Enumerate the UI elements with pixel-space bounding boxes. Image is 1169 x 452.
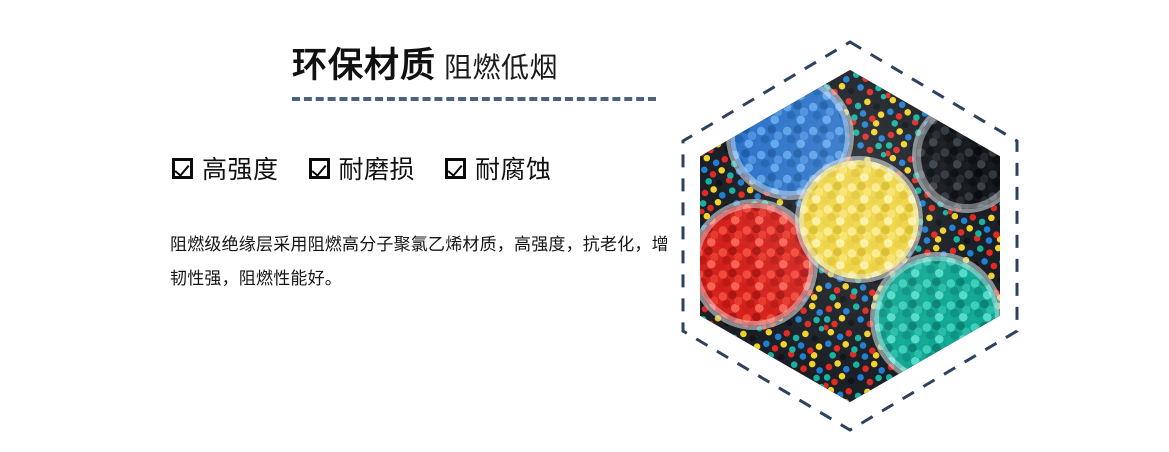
feature-label: 耐腐蚀 bbox=[475, 150, 552, 186]
feature-label: 高强度 bbox=[202, 150, 279, 186]
checkbox-checked-icon bbox=[172, 158, 193, 179]
text-column: 环保材质阻燃低烟 高强度 耐磨损 耐腐蚀 阻燃级绝缘层采用阻燃高分子聚氯乙烯材质… bbox=[0, 0, 680, 452]
yellow-pellet-bowl bbox=[799, 160, 919, 280]
title-secondary: 阻燃低烟 bbox=[444, 52, 558, 83]
bowl-rim bbox=[799, 160, 919, 280]
feature-list: 高强度 耐磨损 耐腐蚀 bbox=[172, 150, 552, 186]
feature-item-wear-resistant: 耐磨损 bbox=[309, 150, 416, 186]
product-image-panel bbox=[679, 38, 1021, 434]
feature-item-corrosion-resistant: 耐腐蚀 bbox=[445, 150, 552, 186]
checkbox-checked-icon bbox=[309, 158, 330, 179]
description-text: 阻燃级绝缘层采用阻燃高分子聚氯乙烯材质，高强度，抗老化，增韧性强，阻燃性能好。 bbox=[170, 228, 670, 296]
title-primary: 环保材质 bbox=[292, 46, 436, 85]
red-pellet-bowl bbox=[700, 203, 814, 326]
feature-label: 耐磨损 bbox=[339, 150, 416, 186]
dashed-divider bbox=[292, 97, 656, 101]
checkbox-checked-icon bbox=[445, 158, 466, 179]
bowl-rim bbox=[700, 203, 814, 326]
feature-item-strength: 高强度 bbox=[172, 150, 279, 186]
promo-banner: 环保材质阻燃低烟 高强度 耐磨损 耐腐蚀 阻燃级绝缘层采用阻燃高分子聚氯乙烯材质… bbox=[0, 0, 1169, 452]
title-line: 环保材质阻燃低烟 bbox=[292, 48, 662, 83]
page-title: 环保材质阻燃低烟 bbox=[292, 48, 662, 83]
